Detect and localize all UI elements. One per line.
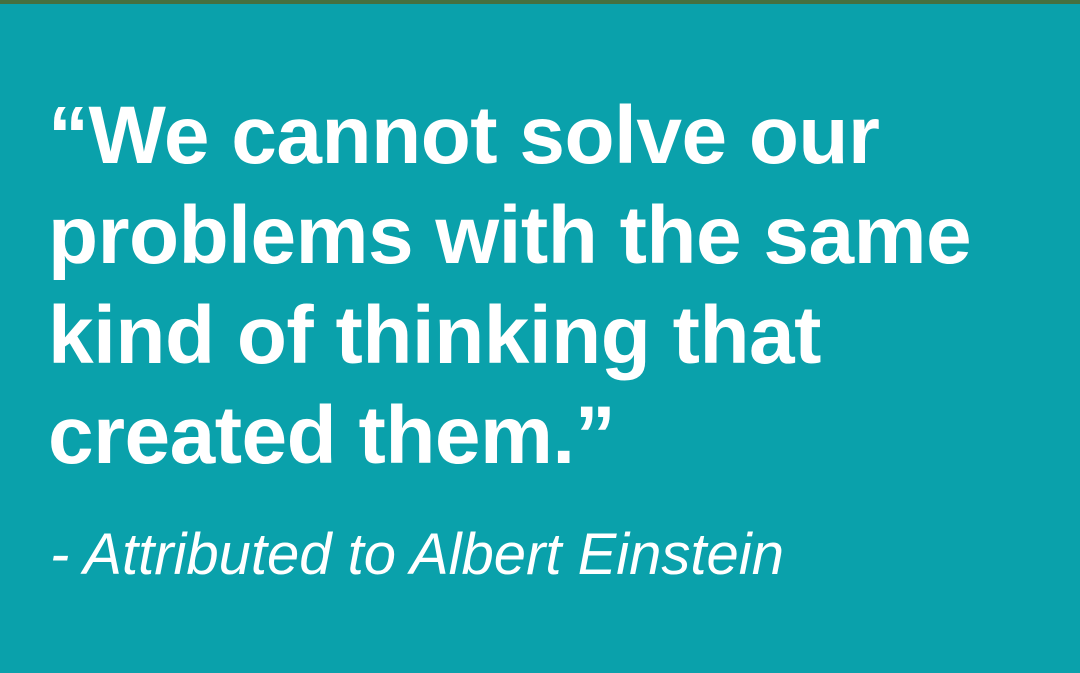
- quote-slide: “We cannot solve our problems with the s…: [0, 0, 1080, 673]
- quote-content: “We cannot solve our problems with the s…: [48, 0, 1058, 673]
- quote-text: “We cannot solve our problems with the s…: [48, 86, 1058, 486]
- quote-attribution: - Attributed to Albert Einstein: [50, 520, 1060, 590]
